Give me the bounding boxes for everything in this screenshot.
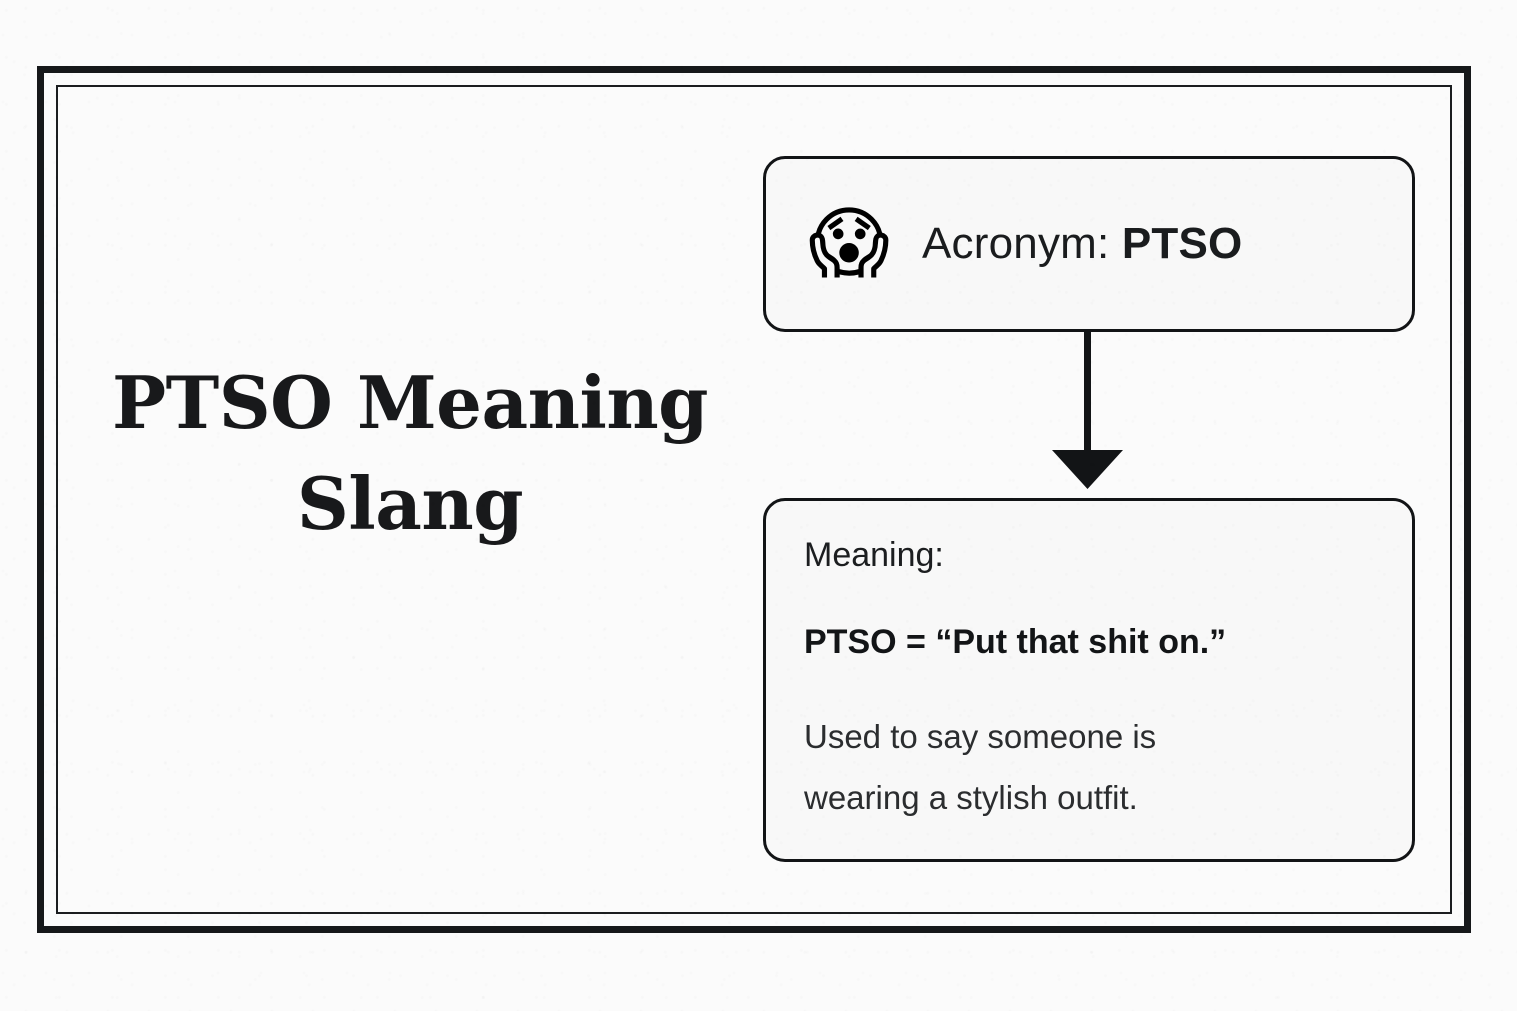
acronym-value: PTSO	[1122, 219, 1243, 268]
page-title-line-2: Slang	[60, 451, 760, 558]
meaning-card: Meaning: PTSO = “Put that shit on.” Used…	[763, 498, 1415, 862]
down-arrow-icon	[1042, 328, 1138, 494]
meaning-definition: PTSO = “Put that shit on.”	[804, 624, 1378, 661]
acronym-card: 😱 Acronym: PTSO	[763, 156, 1415, 332]
acronym-line: Acronym: PTSO	[922, 219, 1242, 269]
acronym-label: Acronym:	[922, 219, 1122, 268]
page-title: PTSO Meaning Slang	[60, 350, 760, 557]
page-title-line-1: PTSO Meaning	[60, 350, 760, 457]
face-screaming-in-fear-icon: 😱	[794, 205, 904, 283]
meaning-label: Meaning:	[804, 537, 1378, 574]
meaning-description: Used to say someone is wearing a stylish…	[804, 706, 1234, 829]
